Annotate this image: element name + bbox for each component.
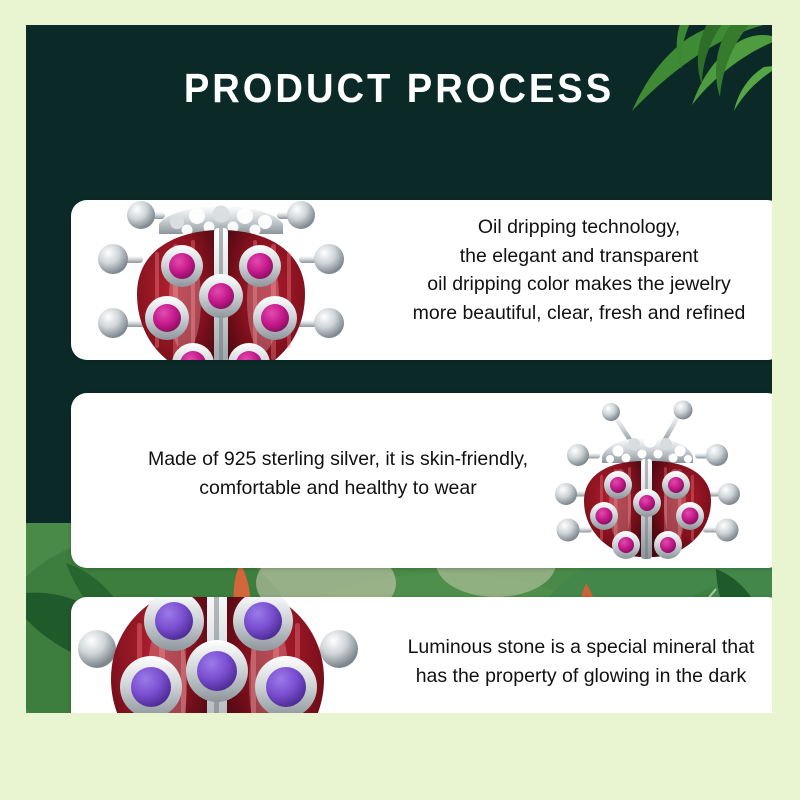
process-card-oil-dripping: Oil dripping technology, the elegant and…	[71, 200, 772, 360]
card-text-sterling-silver: Made of 925 sterling silver, it is skin-…	[93, 445, 583, 502]
ladybug-charm-purple-icon	[71, 597, 367, 713]
dark-panel: PRODUCT PROCESS	[26, 25, 772, 713]
card-line: Luminous stone is a special mineral that	[371, 633, 772, 662]
product-infographic: PRODUCT PROCESS	[0, 0, 800, 800]
card-line: oil dripping color makes the jewelry	[389, 270, 769, 299]
card-line: Made of 925 sterling silver, it is skin-…	[93, 445, 583, 474]
page-title: PRODUCT PROCESS	[52, 65, 746, 112]
card-line: the elegant and transparent	[389, 242, 769, 271]
process-card-luminous-stone: Luminous stone is a special mineral that…	[71, 597, 772, 713]
card-line: comfortable and healthy to wear	[93, 474, 583, 503]
process-card-sterling-silver: Made of 925 sterling silver, it is skin-…	[71, 393, 772, 568]
card-text-luminous-stone: Luminous stone is a special mineral that…	[371, 633, 772, 690]
card-text-oil-dripping: Oil dripping technology, the elegant and…	[389, 213, 769, 328]
card-line: more beautiful, clear, fresh and refined	[389, 299, 769, 328]
card-line: has the property of glowing in the dark	[371, 662, 772, 691]
ladybug-charm-magenta-icon	[81, 200, 361, 360]
card-line: Oil dripping technology,	[389, 213, 769, 242]
